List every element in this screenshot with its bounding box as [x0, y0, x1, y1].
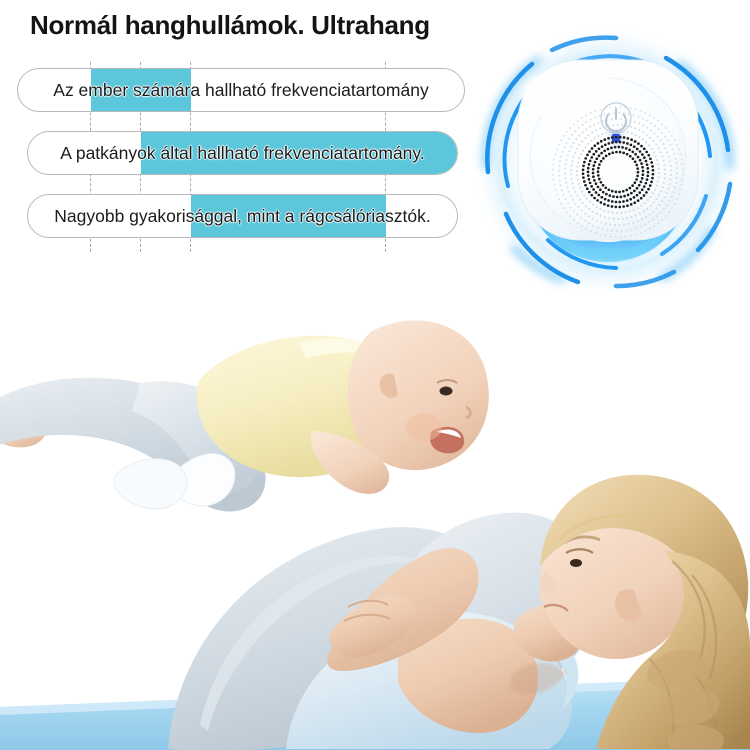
bar-label-human: Az ember számára hallható frekvenciatart… [18, 69, 464, 111]
bar-label-repeller: Nagyobb gyakorisággal, mint a rágcsálóri… [28, 195, 457, 237]
device-svg [466, 16, 750, 300]
bar-track-repeller: Nagyobb gyakorisággal, mint a rágcsálóri… [27, 194, 458, 238]
bar-label-rat: A patkányok által hallható frekvenciatar… [28, 132, 457, 174]
chart-bar-row-human: Az ember számára hallható frekvenciatart… [0, 68, 470, 112]
device-highlight [522, 68, 618, 120]
chart-bar-row-rat: A patkányok által hallható frekvenciatar… [0, 131, 470, 175]
photo-svg [0, 255, 750, 750]
bar-track-rat: A patkányok által hallható frekvenciatar… [27, 131, 458, 175]
chart-bar-row-repeller: Nagyobb gyakorisággal, mint a rágcsálóri… [0, 194, 470, 238]
bar-track-human: Az ember számára hallható frekvenciatart… [17, 68, 465, 112]
frequency-range-chart: Az ember számára hallható frekvenciatart… [0, 62, 470, 252]
page-title: Normál hanghullámok. Ultrahang [30, 10, 430, 41]
device-image [466, 16, 750, 300]
lifestyle-photo [0, 255, 750, 750]
